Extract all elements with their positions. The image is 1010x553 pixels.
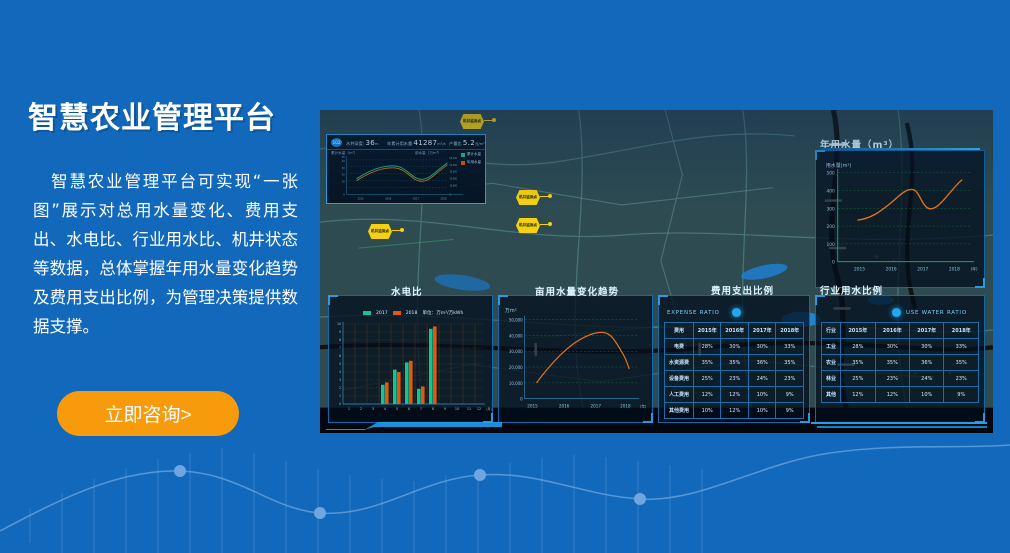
svg-text:4: 4 xyxy=(384,407,386,411)
table-row: 其他费用 10% 12% 10% 9% xyxy=(665,403,804,419)
svg-text:2018: 2018 xyxy=(949,267,960,273)
svg-text:6: 6 xyxy=(408,407,410,411)
per-mu-trend-line-chart: 万m³ 50,00040,00030,000 20,00010,0000 201… xyxy=(499,296,652,422)
svg-text:50,000: 50,000 xyxy=(509,318,523,323)
svg-text:500: 500 xyxy=(827,171,836,177)
node-dot-decoration xyxy=(892,308,901,317)
industry-water-ratio-title: 行业用水比例 xyxy=(820,283,883,297)
col-header: 2015年 xyxy=(841,323,875,339)
svg-text:11: 11 xyxy=(467,407,471,411)
svg-text:(年): (年) xyxy=(971,267,978,272)
svg-text:30,000: 30,000 xyxy=(509,349,523,354)
svg-text:2015: 2015 xyxy=(854,267,865,273)
cell: 25% xyxy=(841,371,875,387)
promo-panel: 智慧农业管理平台 智慧农业管理平台可实现“一张图”展示对总用水量变化、费用支出、… xyxy=(0,0,320,553)
col-header: 2016年 xyxy=(721,323,748,339)
field-unit: m xyxy=(375,142,379,146)
marker-stalk xyxy=(484,120,493,121)
svg-text:5: 5 xyxy=(396,407,398,411)
table-row: 其他 12% 12% 10% 9% xyxy=(822,387,979,403)
map-marker-well[interactable]: 机井监测点 xyxy=(368,224,392,239)
svg-text:3: 3 xyxy=(372,407,374,411)
field-value: 5.2 xyxy=(463,139,475,147)
hexagon-marker-icon: 机井监测点 xyxy=(368,224,392,239)
svg-text:7: 7 xyxy=(339,346,341,350)
svg-text:2017: 2017 xyxy=(917,267,928,273)
svg-text:2: 2 xyxy=(339,386,341,390)
cell: 24% xyxy=(910,371,944,387)
popup-header: 102 水井深度: 36m 年累计用水量 41287m³/a 产量比 5.2元/… xyxy=(327,135,485,150)
water-electricity-panel: 水电比 2017 2018 单位：万m³/万kWh xyxy=(328,295,493,423)
cell: 35% xyxy=(776,355,804,371)
bottom-deco-left xyxy=(326,421,506,431)
svg-text:(年): (年) xyxy=(640,404,647,409)
table-row: 人工费用 12% 12% 10% 9% xyxy=(665,387,804,403)
svg-text:10,000: 10,000 xyxy=(509,381,523,386)
row-label: 电费 xyxy=(665,339,694,355)
field-unit: m³/a xyxy=(437,142,445,146)
cell: 23% xyxy=(944,371,979,387)
cell: 23% xyxy=(875,371,909,387)
hexagon-marker-icon: 机井监测点 xyxy=(516,218,540,233)
svg-text:2017: 2017 xyxy=(590,404,601,409)
industry-water-ratio-table: 行业 2015年 2016年 2017年 2018年 工业 28% 30% 30… xyxy=(821,322,979,403)
svg-text:8: 8 xyxy=(432,407,434,411)
svg-text:10: 10 xyxy=(455,407,459,411)
field-label: 产量比 xyxy=(449,141,462,146)
popup-field-annual: 年累计用水量 41287m³/a xyxy=(387,139,446,147)
expense-ratio-title: 费用支出比例 xyxy=(711,283,774,297)
svg-text:40,000: 40,000 xyxy=(449,164,457,167)
svg-text:20: 20 xyxy=(342,174,346,177)
svg-text:400: 400 xyxy=(827,189,836,195)
cell: 9% xyxy=(944,387,979,403)
cell: 28% xyxy=(841,339,875,355)
svg-text:2016: 2016 xyxy=(385,197,392,200)
svg-text:2015: 2015 xyxy=(358,197,365,200)
svg-text:0: 0 xyxy=(339,402,341,406)
water-electricity-title: 水电比 xyxy=(391,284,423,298)
svg-text:7: 7 xyxy=(420,407,422,411)
svg-text:50,000: 50,000 xyxy=(449,157,457,160)
svg-text:6: 6 xyxy=(339,354,341,358)
cell: 35% xyxy=(841,355,875,371)
svg-text:10,000: 10,000 xyxy=(449,185,457,188)
cell: 23% xyxy=(776,371,804,387)
svg-text:1: 1 xyxy=(339,394,341,398)
cell: 30% xyxy=(910,339,944,355)
svg-text:300: 300 xyxy=(827,206,836,212)
svg-text:40,000: 40,000 xyxy=(509,333,523,338)
cell: 35% xyxy=(721,355,748,371)
map-marker-well[interactable]: 机井监测点 xyxy=(516,190,540,205)
svg-text:2016: 2016 xyxy=(886,267,897,273)
table-header-row: 行业 2015年 2016年 2017年 2018年 xyxy=(822,323,979,339)
marker-stalk xyxy=(540,224,549,225)
popup-field-depth: 水井深度: 36m xyxy=(346,139,379,147)
field-label: 年累计用水量 xyxy=(387,141,412,146)
svg-text:2018: 2018 xyxy=(441,197,448,200)
popup-line-chart: 504030 20100 50,00040,00030,000 20,00010… xyxy=(327,150,485,204)
cell: 30% xyxy=(721,339,748,355)
svg-text:10: 10 xyxy=(337,322,341,326)
cell: 12% xyxy=(694,387,721,403)
col-header: 费用 xyxy=(665,323,694,339)
row-label: 农业 xyxy=(822,355,841,371)
svg-text:200: 200 xyxy=(827,224,836,230)
svg-text:2016: 2016 xyxy=(559,404,570,409)
svg-text:30: 30 xyxy=(342,167,346,170)
cell: 33% xyxy=(944,339,979,355)
svg-text:用水量(m³): 用水量(m³) xyxy=(826,162,852,169)
marker-label: 机井监测点 xyxy=(519,195,537,200)
field-value: 41287 xyxy=(413,139,437,147)
dashboard-screenshot: 2018-09-10 13:34:09 智慧农业综合监控管理平台 机井状态统计 xyxy=(320,110,993,433)
cell: 33% xyxy=(776,339,804,355)
cell: 10% xyxy=(748,387,775,403)
expense-ratio-subtitle: EXPENSE RATIO xyxy=(667,310,720,316)
cell: 35% xyxy=(944,355,979,371)
panel-accent-strip xyxy=(820,148,980,150)
cell: 9% xyxy=(776,387,804,403)
marker-label: 机井监测点 xyxy=(519,223,537,228)
svg-text:2017: 2017 xyxy=(413,197,420,200)
table-row: 工业 28% 30% 30% 33% xyxy=(822,339,979,355)
page-title: 智慧农业管理平台 xyxy=(28,93,276,137)
node-dot-decoration xyxy=(732,308,741,317)
svg-text:40: 40 xyxy=(342,160,346,163)
marker-label: 机井监测点 xyxy=(463,119,481,124)
water-electricity-bar-chart: 1098 765 432 10 123 456 789 101112 (月) xyxy=(329,314,494,424)
svg-text:2018: 2018 xyxy=(620,404,631,409)
svg-text:9: 9 xyxy=(444,407,446,411)
cell: 12% xyxy=(721,403,748,419)
svg-text:2015: 2015 xyxy=(527,404,538,409)
svg-text:50: 50 xyxy=(342,156,346,159)
expense-ratio-table: 费用 2015年 2016年 2017年 2018年 电费 28% 30% 30… xyxy=(664,322,804,419)
field-value: 36 xyxy=(366,139,376,147)
hexagon-marker-icon: 机井监测点 xyxy=(516,190,540,205)
annual-water-panel: 年用水量（m³） 用水量(m³) 500400300 2001000 20152… xyxy=(815,150,985,288)
col-header: 行业 xyxy=(822,323,841,339)
col-header: 2015年 xyxy=(694,323,721,339)
popup-field-ratio: 产量比 5.2元/m³ xyxy=(449,139,485,147)
svg-text:3: 3 xyxy=(339,378,341,382)
row-label: 林业 xyxy=(822,371,841,387)
table-row: 设备费用 25% 23% 24% 23% xyxy=(665,371,804,387)
marker-stalk xyxy=(540,196,549,197)
row-label: 工业 xyxy=(822,339,841,355)
map-panel[interactable]: 机井监测点 机井监测点 机井监测点 机井监测点 102 水井深度: 36m xyxy=(320,110,632,248)
row-label: 水资源费 xyxy=(665,355,694,371)
cell: 28% xyxy=(694,339,721,355)
annual-water-line-chart: 用水量(m³) 500400300 2001000 20152016 20172… xyxy=(816,151,984,287)
row-label: 其他费用 xyxy=(665,403,694,419)
col-header: 2016年 xyxy=(875,323,909,339)
panel-corner-deco xyxy=(658,295,668,305)
bottom-deco-right xyxy=(807,421,987,431)
svg-text:12: 12 xyxy=(477,407,481,411)
cell: 36% xyxy=(910,355,944,371)
consult-now-button[interactable]: 立即咨询> xyxy=(57,391,239,436)
field-unit: 元/m³ xyxy=(475,142,485,146)
svg-text:9: 9 xyxy=(339,330,341,334)
row-label: 人工费用 xyxy=(665,387,694,403)
marker-stalk xyxy=(392,230,401,231)
svg-text:0: 0 xyxy=(520,397,523,402)
col-header: 2018年 xyxy=(944,323,979,339)
svg-text:20,000: 20,000 xyxy=(449,178,457,181)
cell: 10% xyxy=(694,403,721,419)
table-row: 水资源费 35% 35% 36% 35% xyxy=(665,355,804,371)
cell: 35% xyxy=(875,355,909,371)
svg-text:万m³: 万m³ xyxy=(505,308,517,314)
cell: 12% xyxy=(841,387,875,403)
cell: 10% xyxy=(748,403,775,419)
row-label: 其他 xyxy=(822,387,841,403)
cell: 35% xyxy=(694,355,721,371)
cell: 12% xyxy=(875,387,909,403)
col-header: 2018年 xyxy=(776,323,804,339)
table-row: 农业 35% 35% 36% 35% xyxy=(822,355,979,371)
map-detail-popup[interactable]: 102 水井深度: 36m 年累计用水量 41287m³/a 产量比 5.2元/… xyxy=(326,134,486,204)
svg-text:(月): (月) xyxy=(486,407,491,411)
popup-badge: 102 xyxy=(331,138,342,147)
svg-text:30,000: 30,000 xyxy=(449,171,457,174)
cell: 25% xyxy=(694,371,721,387)
industry-water-ratio-panel: 行业用水比例 USE WATER RATIO 行业 2015年 2016年 20… xyxy=(815,295,985,423)
svg-text:100: 100 xyxy=(827,242,836,248)
svg-text:20,000: 20,000 xyxy=(509,365,523,370)
table-row: 林业 25% 23% 24% 23% xyxy=(822,371,979,387)
svg-text:1: 1 xyxy=(348,407,350,411)
industry-water-ratio-subtitle: USE WATER RATIO xyxy=(906,310,967,316)
promo-description: 智慧农业管理平台可实现“一张图”展示对总用水量变化、费用支出、水电比、行业用水比… xyxy=(33,167,298,341)
svg-text:0: 0 xyxy=(343,193,345,196)
cell: 36% xyxy=(748,355,775,371)
cell: 12% xyxy=(721,387,748,403)
svg-text:5: 5 xyxy=(339,362,341,366)
cell: 23% xyxy=(721,371,748,387)
cell: 9% xyxy=(776,403,804,419)
marker-label: 机井监测点 xyxy=(371,229,389,234)
table-header-row: 费用 2015年 2016年 2017年 2018年 xyxy=(665,323,804,339)
col-header: 2017年 xyxy=(748,323,775,339)
svg-text:4: 4 xyxy=(339,370,341,374)
map-marker-well[interactable]: 机井监测点 xyxy=(460,114,484,129)
cell: 30% xyxy=(748,339,775,355)
svg-text:10: 10 xyxy=(342,181,346,184)
cell: 10% xyxy=(910,387,944,403)
panel-corner-deco xyxy=(328,295,338,305)
svg-text:0: 0 xyxy=(449,193,451,196)
cell: 24% xyxy=(748,371,775,387)
hexagon-marker-icon: 机井监测点 xyxy=(460,114,484,129)
svg-text:0: 0 xyxy=(832,260,835,266)
row-label: 设备费用 xyxy=(665,371,694,387)
map-marker-well[interactable]: 机井监测点 xyxy=(516,218,540,233)
field-label: 水井深度: xyxy=(346,141,364,146)
per-mu-trend-panel: 亩用水量变化趋势 万m³ 50,00040,00030,000 20,00010… xyxy=(498,295,653,423)
cell: 30% xyxy=(875,339,909,355)
svg-text:8: 8 xyxy=(339,338,341,342)
col-header: 2017年 xyxy=(910,323,944,339)
expense-ratio-panel: 费用支出比例 EXPENSE RATIO 费用 2015年 2016年 2017… xyxy=(658,295,810,423)
table-row: 电费 28% 30% 30% 33% xyxy=(665,339,804,355)
svg-text:2: 2 xyxy=(360,407,362,411)
